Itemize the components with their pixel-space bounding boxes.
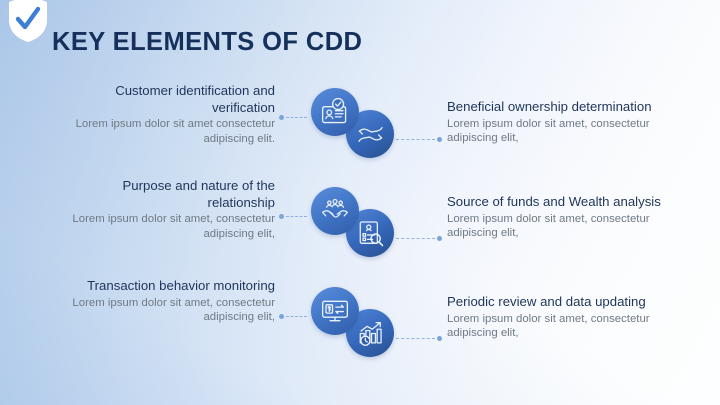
element-title: Beneficial ownership determination <box>447 99 662 116</box>
connector-left-1 <box>279 113 309 122</box>
element-title: Purpose and nature of the relationship <box>65 178 275 211</box>
id-card-check-icon <box>320 97 350 127</box>
connector-dash <box>286 117 307 118</box>
monitor-transaction-icon <box>320 296 350 326</box>
connector-right-3 <box>394 334 442 343</box>
element-text-left-3: Transaction behavior monitoring Lorem ip… <box>65 278 275 325</box>
shield-check-icon <box>6 0 50 44</box>
element-text-left-2: Purpose and nature of the relationship L… <box>65 178 275 241</box>
icon-circle-id-card-check[interactable] <box>311 88 359 136</box>
connector-left-3 <box>279 312 309 321</box>
element-title: Customer identification and verification <box>65 83 275 116</box>
page-title: KEY ELEMENTS OF CDD <box>52 28 362 57</box>
element-description: Lorem ipsum dolor sit amet, consectetur … <box>65 296 275 325</box>
handshake-people-icon <box>320 196 350 226</box>
slide-canvas: KEY ELEMENTS OF CDD Customer identificat… <box>0 0 720 405</box>
icon-circle-monitor-transaction[interactable] <box>311 287 359 335</box>
document-magnifier-icon <box>356 219 385 248</box>
element-title: Source of funds and Wealth analysis <box>447 194 662 211</box>
connector-dash <box>396 238 435 239</box>
connector-right-2 <box>394 234 442 243</box>
element-title: Periodic review and data updating <box>447 294 662 311</box>
connector-dot-icon <box>279 214 284 219</box>
chart-clock-icon <box>356 319 385 348</box>
element-text-left-1: Customer identification and verification… <box>65 83 275 146</box>
connector-dash <box>396 139 435 140</box>
element-text-right-1: Beneficial ownership determination Lorem… <box>447 99 662 146</box>
element-description: Lorem ipsum dolor sit amet, consectetur … <box>447 117 662 146</box>
element-description: Lorem ipsum dolor sit amet, consectetur … <box>65 212 275 241</box>
connector-dash <box>396 338 435 339</box>
connector-right-1 <box>394 135 442 144</box>
element-title: Transaction behavior monitoring <box>65 278 275 295</box>
connector-dot-icon <box>437 336 442 341</box>
connector-dot-icon <box>437 236 442 241</box>
connector-dot-icon <box>279 115 284 120</box>
element-description: Lorem ipsum dolor sit amet, consectetur … <box>447 312 662 341</box>
connector-dash <box>286 316 307 317</box>
connector-dash <box>286 216 307 217</box>
element-text-right-3: Periodic review and data updating Lorem … <box>447 294 662 341</box>
icon-circle-handshake-people[interactable] <box>311 187 359 235</box>
connector-left-2 <box>279 212 309 221</box>
element-row-3: Transaction behavior monitoring Lorem ip… <box>0 276 720 386</box>
connector-dot-icon <box>437 137 442 142</box>
element-description: Lorem ipsum dolor sit amet, consectetur … <box>447 212 662 241</box>
hands-exchange-icon <box>356 120 385 149</box>
connector-dot-icon <box>279 314 284 319</box>
element-row-1: Customer identification and verification… <box>0 78 720 188</box>
element-text-right-2: Source of funds and Wealth analysis Lore… <box>447 194 662 241</box>
slide-header: KEY ELEMENTS OF CDD <box>0 0 720 52</box>
element-description: Lorem ipsum dolor sit amet consectetur a… <box>65 117 275 146</box>
element-row-2: Purpose and nature of the relationship L… <box>0 176 720 286</box>
